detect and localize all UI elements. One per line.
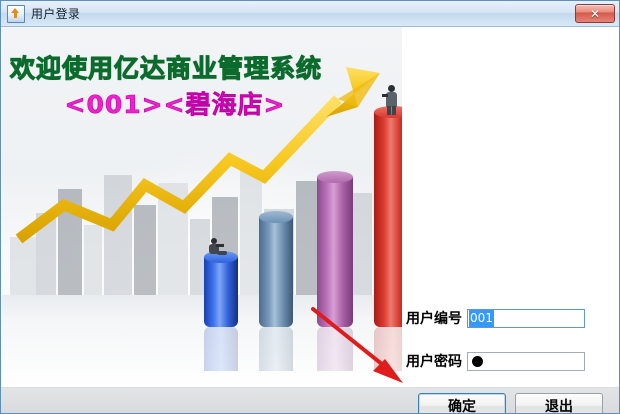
window-title: 用户登录: [31, 5, 80, 22]
password-mask-dot: [472, 356, 483, 367]
page-subtitle: <001><碧海店>: [10, 85, 400, 121]
login-form: 用户编号 001 用户密码: [402, 27, 619, 387]
user-id-field-row: 用户编号 001: [406, 308, 585, 328]
bar-blue: [204, 257, 238, 327]
bar-red: [374, 112, 402, 327]
login-window: 用户登录 ✕: [0, 0, 620, 414]
red-pointer-arrow: [301, 297, 421, 397]
bar-steel: [259, 217, 293, 327]
businessman-sitting-icon: [207, 238, 229, 260]
user-id-input[interactable]: 001: [467, 309, 585, 328]
close-icon: ✕: [590, 8, 600, 20]
password-field-row: 用户密码: [406, 351, 585, 371]
close-button[interactable]: ✕: [575, 4, 615, 23]
login-window-icon: [7, 5, 25, 23]
exit-button[interactable]: 退出: [515, 393, 603, 414]
user-id-value: 001: [469, 310, 494, 327]
page-title: 欢迎使用亿达商业管理系统: [10, 49, 400, 85]
confirm-button[interactable]: 确定: [418, 393, 506, 414]
title-bar: 用户登录 ✕: [1, 1, 619, 27]
password-input[interactable]: [467, 352, 585, 371]
client-area: 欢迎使用亿达商业管理系统 <001><碧海店> 用户编号 001 用户密码: [1, 27, 619, 413]
